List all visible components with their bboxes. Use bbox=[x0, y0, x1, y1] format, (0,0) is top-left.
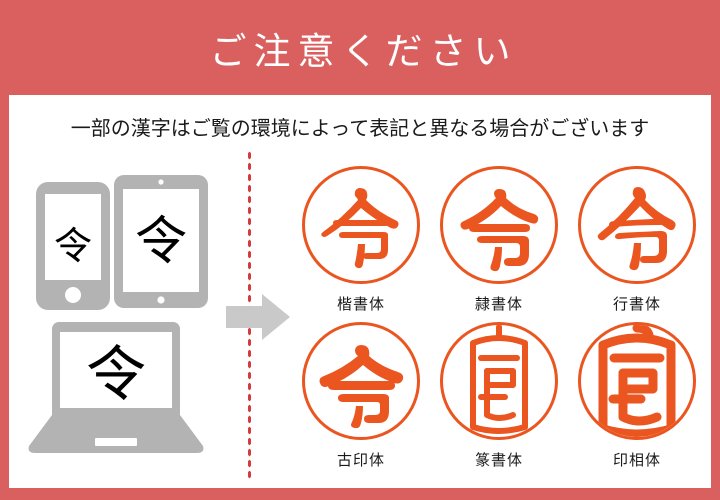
stamp-label-koin: 古印体 bbox=[337, 449, 385, 470]
stamp-circle-gyosho bbox=[578, 166, 696, 284]
stamp-circle-reisho bbox=[440, 166, 558, 284]
notice-subtitle: 一部の漢字はご覧の環境によって表記と異なる場合がございます bbox=[9, 104, 711, 148]
device-illustrations: 令 令 令 bbox=[20, 170, 240, 470]
stamp-glyph-koin bbox=[311, 331, 411, 431]
frame-border-bottom bbox=[0, 488, 720, 500]
stamp-item-tensho[interactable]: 篆書体 bbox=[430, 322, 568, 478]
stamp-label-reisho: 隷書体 bbox=[475, 293, 523, 314]
stamp-glyph-kaisho bbox=[311, 175, 411, 275]
stamp-item-gyosho[interactable]: 行書体 bbox=[568, 166, 706, 322]
stamp-label-gyosho: 行書体 bbox=[613, 293, 661, 314]
stamp-circle-koin bbox=[302, 322, 420, 440]
stamp-glyph-reisho bbox=[449, 175, 549, 275]
smartphone-icon bbox=[36, 182, 110, 310]
tablet-icon bbox=[114, 175, 208, 308]
stamp-style-grid: 楷書体 隷書体 bbox=[292, 166, 706, 478]
stamp-circle-tensho bbox=[440, 322, 558, 440]
stamp-item-kaisho[interactable]: 楷書体 bbox=[292, 166, 430, 322]
stamp-glyph-tensho bbox=[443, 325, 555, 437]
arrow-right-icon bbox=[226, 294, 290, 340]
frame-border-left bbox=[0, 95, 9, 500]
notice-banner: ご注意ください 一部の漢字はご覧の環境によって表記と異なる場合がございます 令 … bbox=[0, 0, 720, 500]
laptop-icon bbox=[25, 322, 207, 454]
stamp-circle-inso bbox=[578, 322, 696, 440]
stamp-label-kaisho: 楷書体 bbox=[337, 293, 385, 314]
stamp-item-reisho[interactable]: 隷書体 bbox=[430, 166, 568, 322]
frame-border-right bbox=[711, 95, 720, 500]
stamp-item-inso[interactable]: 印相体 bbox=[568, 322, 706, 478]
stamp-circle-kaisho bbox=[302, 166, 420, 284]
page-title: ご注意ください bbox=[0, 0, 720, 95]
stamp-item-koin[interactable]: 古印体 bbox=[292, 322, 430, 478]
stamp-label-inso: 印相体 bbox=[613, 449, 661, 470]
stamp-glyph-gyosho bbox=[587, 175, 687, 275]
stamp-glyph-inso bbox=[581, 325, 693, 437]
stamp-label-tensho: 篆書体 bbox=[475, 449, 523, 470]
